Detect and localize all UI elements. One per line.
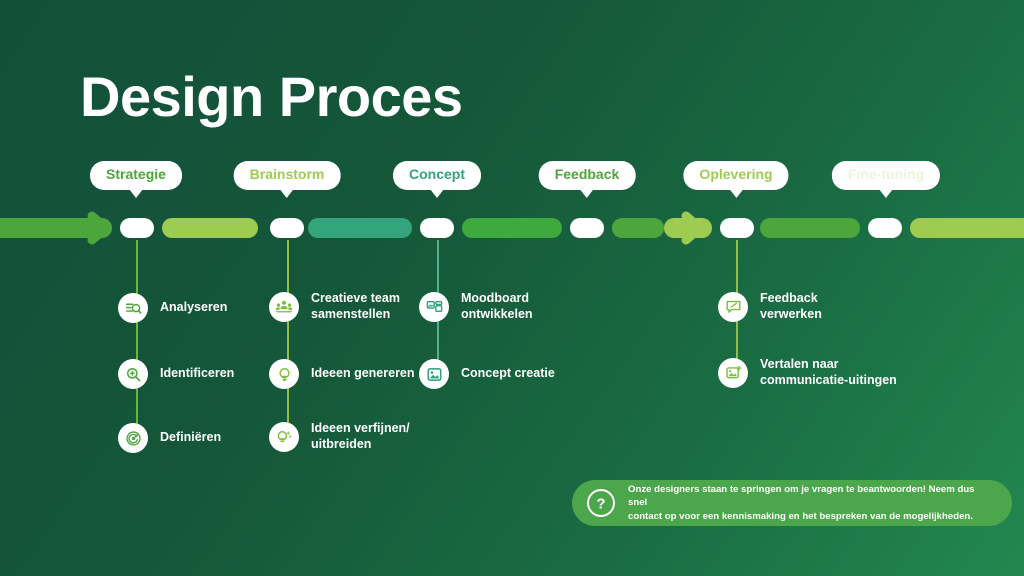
- stage-label-concept[interactable]: Concept: [393, 161, 481, 190]
- arrow-oplevering: [672, 206, 716, 250]
- arrow-start: [78, 206, 122, 250]
- segment-oplevering-green: [760, 218, 860, 238]
- pill-feedback[interactable]: [570, 218, 604, 238]
- stage-item[interactable]: Analyseren: [118, 293, 227, 323]
- analyse-search-icon: [118, 293, 148, 323]
- target-spiral-icon: [118, 423, 148, 453]
- lightbulb-icon: [269, 359, 299, 389]
- contact-banner-text: Onze designers staan te springen om je v…: [628, 483, 996, 523]
- connector-line-brainstorm: [287, 240, 289, 440]
- svg-text:?: ?: [596, 496, 605, 513]
- segment-concept-green: [462, 218, 562, 238]
- stage-label-oplevering[interactable]: Oplevering: [683, 161, 788, 190]
- contact-banner[interactable]: ? Onze designers staan te springen om je…: [572, 480, 1012, 526]
- connector-line-strategie: [136, 240, 138, 440]
- stage-label-feedback[interactable]: Feedback: [539, 161, 636, 190]
- stage-item[interactable]: Definiëren: [118, 423, 221, 453]
- stage-item[interactable]: Identificeren: [118, 359, 234, 389]
- pill-brainstorm[interactable]: [270, 218, 304, 238]
- magnifier-plus-icon: [118, 359, 148, 389]
- feedback-edit-icon: [718, 292, 748, 322]
- lightbulb-sparkle-icon: [269, 422, 299, 452]
- stage-item-label: Definiëren: [160, 430, 221, 446]
- stage-item-label: Ideeen verfijnen/ uitbreiden: [311, 421, 410, 452]
- stage-item[interactable]: Moodboard ontwikkelen: [419, 291, 533, 322]
- image-export-icon: [718, 358, 748, 388]
- infographic-canvas: Design Proces StrategieBrainstormConcept…: [0, 0, 1024, 576]
- stage-item[interactable]: Creatieve team samenstellen: [269, 291, 400, 322]
- moodboard-grid-icon: [419, 292, 449, 322]
- stage-item[interactable]: Concept creatie: [419, 359, 555, 389]
- stage-label-finetuning[interactable]: Fine-tuning: [832, 161, 940, 190]
- stage-item-label: Creatieve team samenstellen: [311, 291, 400, 322]
- pill-finetuning[interactable]: [868, 218, 902, 238]
- stage-item-label: Analyseren: [160, 300, 227, 316]
- process-timeline: [0, 218, 1024, 238]
- image-frame-icon: [419, 359, 449, 389]
- segment-feedback-green: [612, 218, 664, 238]
- page-title: Design Proces: [80, 66, 463, 128]
- segment-brainstorm-teal: [308, 218, 412, 238]
- stage-item[interactable]: Ideeen genereren: [269, 359, 415, 389]
- stage-item-label: Ideeen genereren: [311, 366, 415, 382]
- segment-finetuning-light: [910, 218, 1024, 238]
- question-mark-icon: ?: [586, 488, 616, 518]
- stage-label-strategie[interactable]: Strategie: [90, 161, 182, 190]
- stage-item[interactable]: Ideeen verfijnen/ uitbreiden: [269, 421, 410, 452]
- stage-item-label: Vertalen naar communicatie-uitingen: [760, 357, 897, 388]
- stage-item-label: Feedback verwerken: [760, 291, 822, 322]
- stage-item[interactable]: Vertalen naar communicatie-uitingen: [718, 357, 897, 388]
- team-group-icon: [269, 292, 299, 322]
- segment-strategie-light: [162, 218, 258, 238]
- stage-item-label: Concept creatie: [461, 366, 555, 382]
- pill-strategie[interactable]: [120, 218, 154, 238]
- stage-item[interactable]: Feedback verwerken: [718, 291, 822, 322]
- pill-oplevering[interactable]: [720, 218, 754, 238]
- stage-item-label: Identificeren: [160, 366, 234, 382]
- stage-item-label: Moodboard ontwikkelen: [461, 291, 533, 322]
- stage-label-brainstorm[interactable]: Brainstorm: [234, 161, 341, 190]
- pill-concept[interactable]: [420, 218, 454, 238]
